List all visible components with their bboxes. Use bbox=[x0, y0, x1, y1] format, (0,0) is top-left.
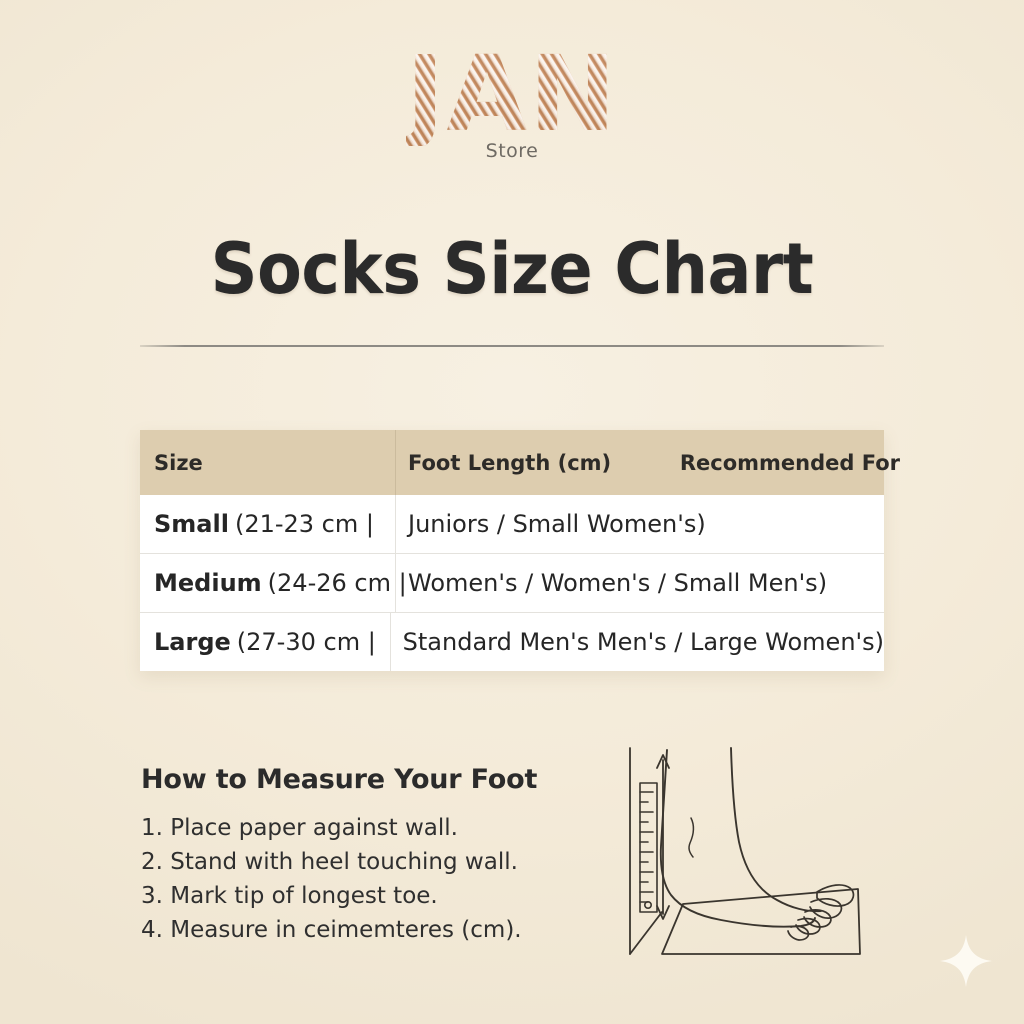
cell-recommended-medium: Women's / Women's / Small Men's) bbox=[396, 554, 884, 612]
size-label-medium: Medium bbox=[154, 569, 262, 597]
table-row: Medium (24-26 cm | Women's / Women's / S… bbox=[140, 554, 884, 613]
ruler bbox=[640, 783, 657, 912]
measure-step: 4. Measure in ceimemteres (cm). bbox=[141, 913, 571, 947]
measure-steps-list: 1. Place paper against wall. 2. Stand wi… bbox=[141, 811, 571, 947]
measurement-arrow bbox=[657, 755, 669, 919]
brand-logo: JAN Store bbox=[0, 42, 1024, 162]
cell-recommended-large: Standard Men's Men's / Large Women's) bbox=[391, 613, 884, 671]
measure-step: 2. Stand with heel touching wall. bbox=[141, 845, 571, 879]
logo-wordmark: JAN bbox=[406, 42, 618, 146]
header-cell-size: Size bbox=[140, 430, 396, 495]
table-row: Large (27-30 cm | Standard Men's Men's /… bbox=[140, 613, 884, 671]
size-chart-page: JAN Store Socks Size Chart Size Foot Len… bbox=[0, 0, 1024, 1024]
title-divider bbox=[140, 345, 884, 347]
how-to-measure-heading: How to Measure Your Foot bbox=[141, 764, 571, 795]
table-row: Small (21-23 cm | Juniors / Small Women'… bbox=[140, 495, 884, 554]
header-cell-group: Foot Length (cm) Recommended For bbox=[396, 430, 884, 495]
cell-size-large: Large (27-30 cm | bbox=[140, 613, 391, 671]
length-large: (27-30 cm | bbox=[237, 628, 376, 656]
table-header-row: Size Foot Length (cm) Recommended For bbox=[140, 430, 884, 495]
cell-recommended-small: Juniors / Small Women's) bbox=[396, 495, 884, 553]
toes bbox=[788, 885, 853, 940]
length-medium: (24-26 cm | bbox=[268, 569, 407, 597]
size-label-large: Large bbox=[154, 628, 231, 656]
foot-measurement-illustration bbox=[595, 742, 895, 972]
size-label-small: Small bbox=[154, 510, 229, 538]
measure-step: 3. Mark tip of longest toe. bbox=[141, 879, 571, 913]
cell-size-medium: Medium (24-26 cm | bbox=[140, 554, 396, 612]
cell-size-small: Small (21-23 cm | bbox=[140, 495, 396, 553]
header-cell-foot-length: Foot Length (cm) bbox=[408, 451, 611, 475]
sparkle-icon bbox=[938, 933, 994, 989]
header-cell-recommended-for: Recommended For bbox=[680, 451, 900, 475]
how-to-measure-section: How to Measure Your Foot 1. Place paper … bbox=[141, 764, 571, 947]
measure-step: 1. Place paper against wall. bbox=[141, 811, 571, 845]
page-title: Socks Size Chart bbox=[36, 228, 988, 310]
length-small: (21-23 cm | bbox=[235, 510, 374, 538]
size-chart-table: Size Foot Length (cm) Recommended For Sm… bbox=[140, 430, 884, 671]
